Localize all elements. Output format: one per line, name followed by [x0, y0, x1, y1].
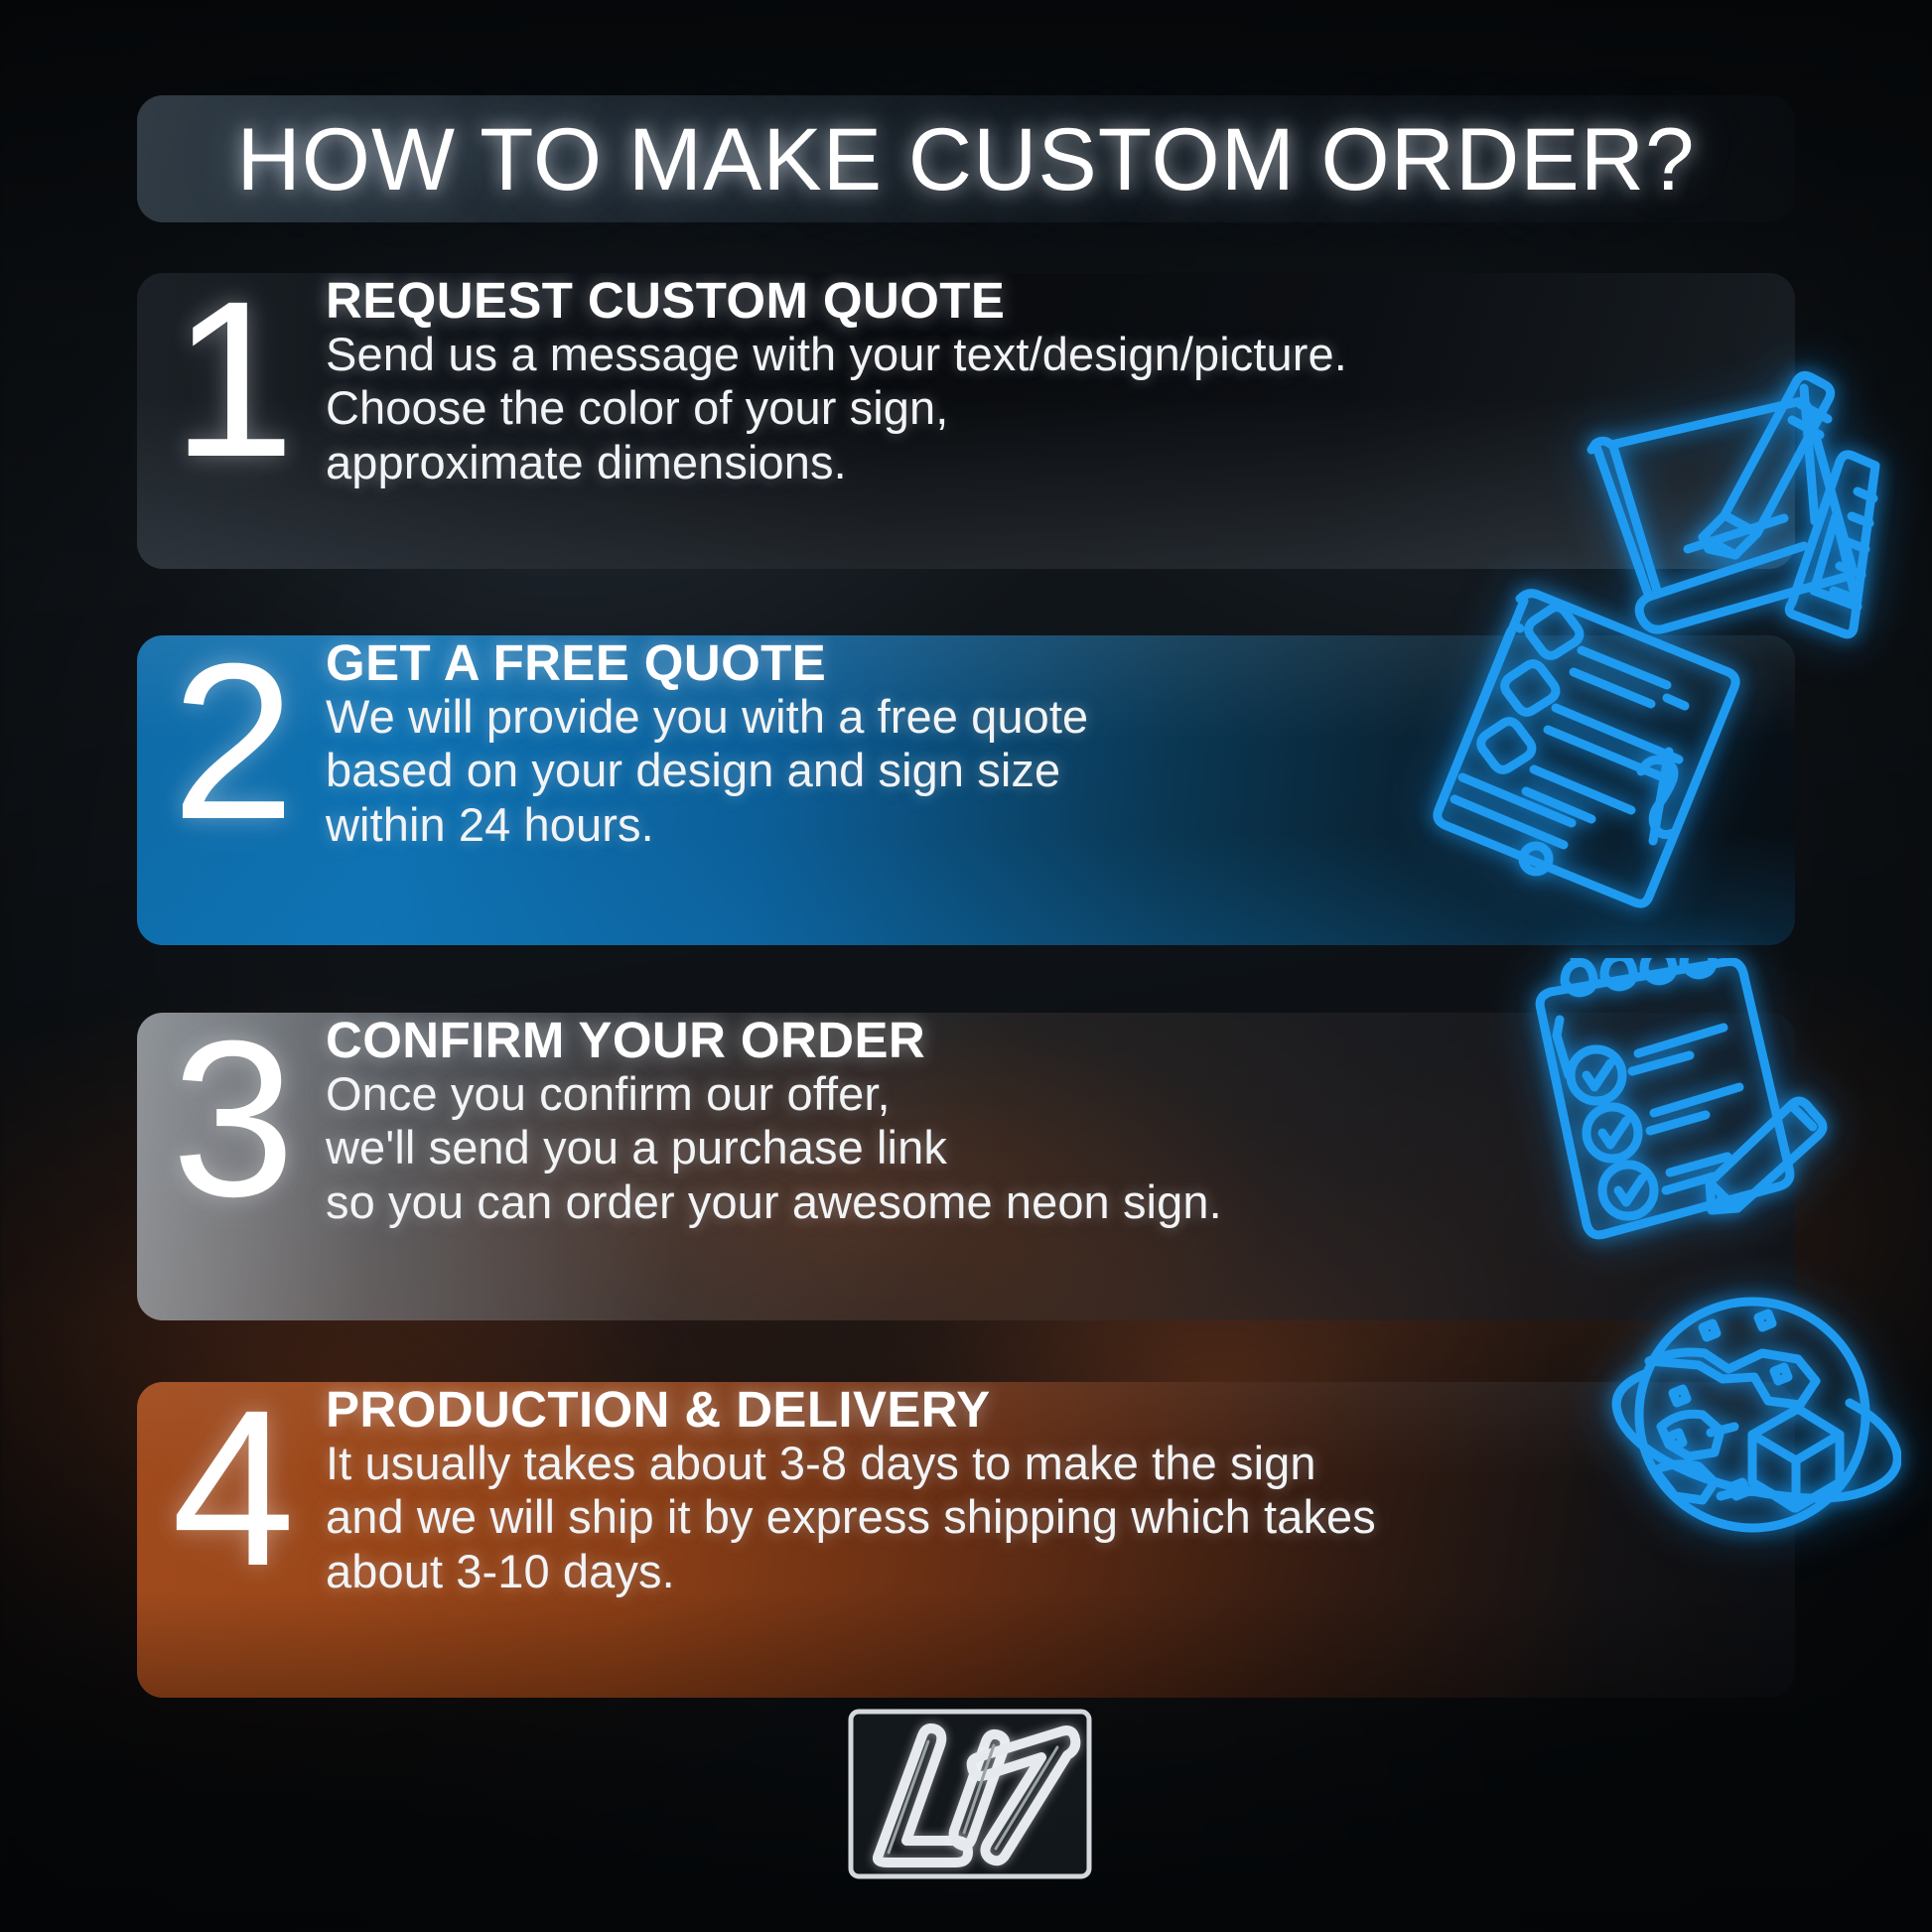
- step-body-line: It usually takes about 3-8 days to make …: [326, 1437, 1755, 1490]
- step-card-3: 3 CONFIRM YOUR ORDER Once you confirm ou…: [137, 1013, 1795, 1320]
- step-body-line: based on your design and sign size: [326, 744, 1755, 797]
- step-body-line: Once you confirm our offer,: [326, 1067, 1755, 1121]
- infographic-canvas: HOW TO MAKE CUSTOM ORDER? 1 REQUEST CUST…: [0, 0, 1932, 1932]
- title-banner: HOW TO MAKE CUSTOM ORDER?: [137, 95, 1795, 222]
- step-number-3: 3: [137, 1013, 326, 1226]
- step-body-2: We will provide you with a free quote ba…: [326, 690, 1755, 852]
- step-body-line: We will provide you with a free quote: [326, 690, 1755, 744]
- step-heading-4: PRODUCTION & DELIVERY: [326, 1382, 1755, 1437]
- step-text-1: REQUEST CUSTOM QUOTE Send us a message w…: [326, 273, 1795, 489]
- step-body-line: within 24 hours.: [326, 798, 1755, 852]
- step-number-4: 4: [137, 1382, 326, 1595]
- step-text-2: GET A FREE QUOTE We will provide you wit…: [326, 635, 1795, 852]
- step-text-4: PRODUCTION & DELIVERY It usually takes a…: [326, 1382, 1795, 1598]
- step-card-1: 1 REQUEST CUSTOM QUOTE Send us a message…: [137, 273, 1795, 569]
- step-heading-2: GET A FREE QUOTE: [326, 635, 1755, 690]
- step-body-line: so you can order your awesome neon sign.: [326, 1175, 1755, 1229]
- step-body-line: and we will ship it by express shipping …: [326, 1490, 1755, 1544]
- step-heading-1: REQUEST CUSTOM QUOTE: [326, 273, 1755, 328]
- step-number-1: 1: [137, 273, 326, 486]
- step-body-line: approximate dimensions.: [326, 436, 1755, 489]
- step-number-2: 2: [137, 635, 326, 849]
- step-card-4: 4 PRODUCTION & DELIVERY It usually takes…: [137, 1382, 1795, 1698]
- step-body-line: Choose the color of your sign,: [326, 381, 1755, 435]
- step-card-2: 2 GET A FREE QUOTE We will provide you w…: [137, 635, 1795, 945]
- step-heading-3: CONFIRM YOUR ORDER: [326, 1013, 1755, 1067]
- step-body-line: we'll send you a purchase link: [326, 1121, 1755, 1174]
- step-body-line: Send us a message with your text/design/…: [326, 328, 1755, 381]
- step-body-4: It usually takes about 3-8 days to make …: [326, 1437, 1755, 1598]
- step-text-3: CONFIRM YOUR ORDER Once you confirm our …: [326, 1013, 1795, 1229]
- page-title: HOW TO MAKE CUSTOM ORDER?: [237, 115, 1696, 204]
- step-body-3: Once you confirm our offer, we'll send y…: [326, 1067, 1755, 1229]
- step-body-1: Send us a message with your text/design/…: [326, 328, 1755, 489]
- neon-monogram-logo: [845, 1706, 1095, 1882]
- step-body-line: about 3-10 days.: [326, 1545, 1755, 1598]
